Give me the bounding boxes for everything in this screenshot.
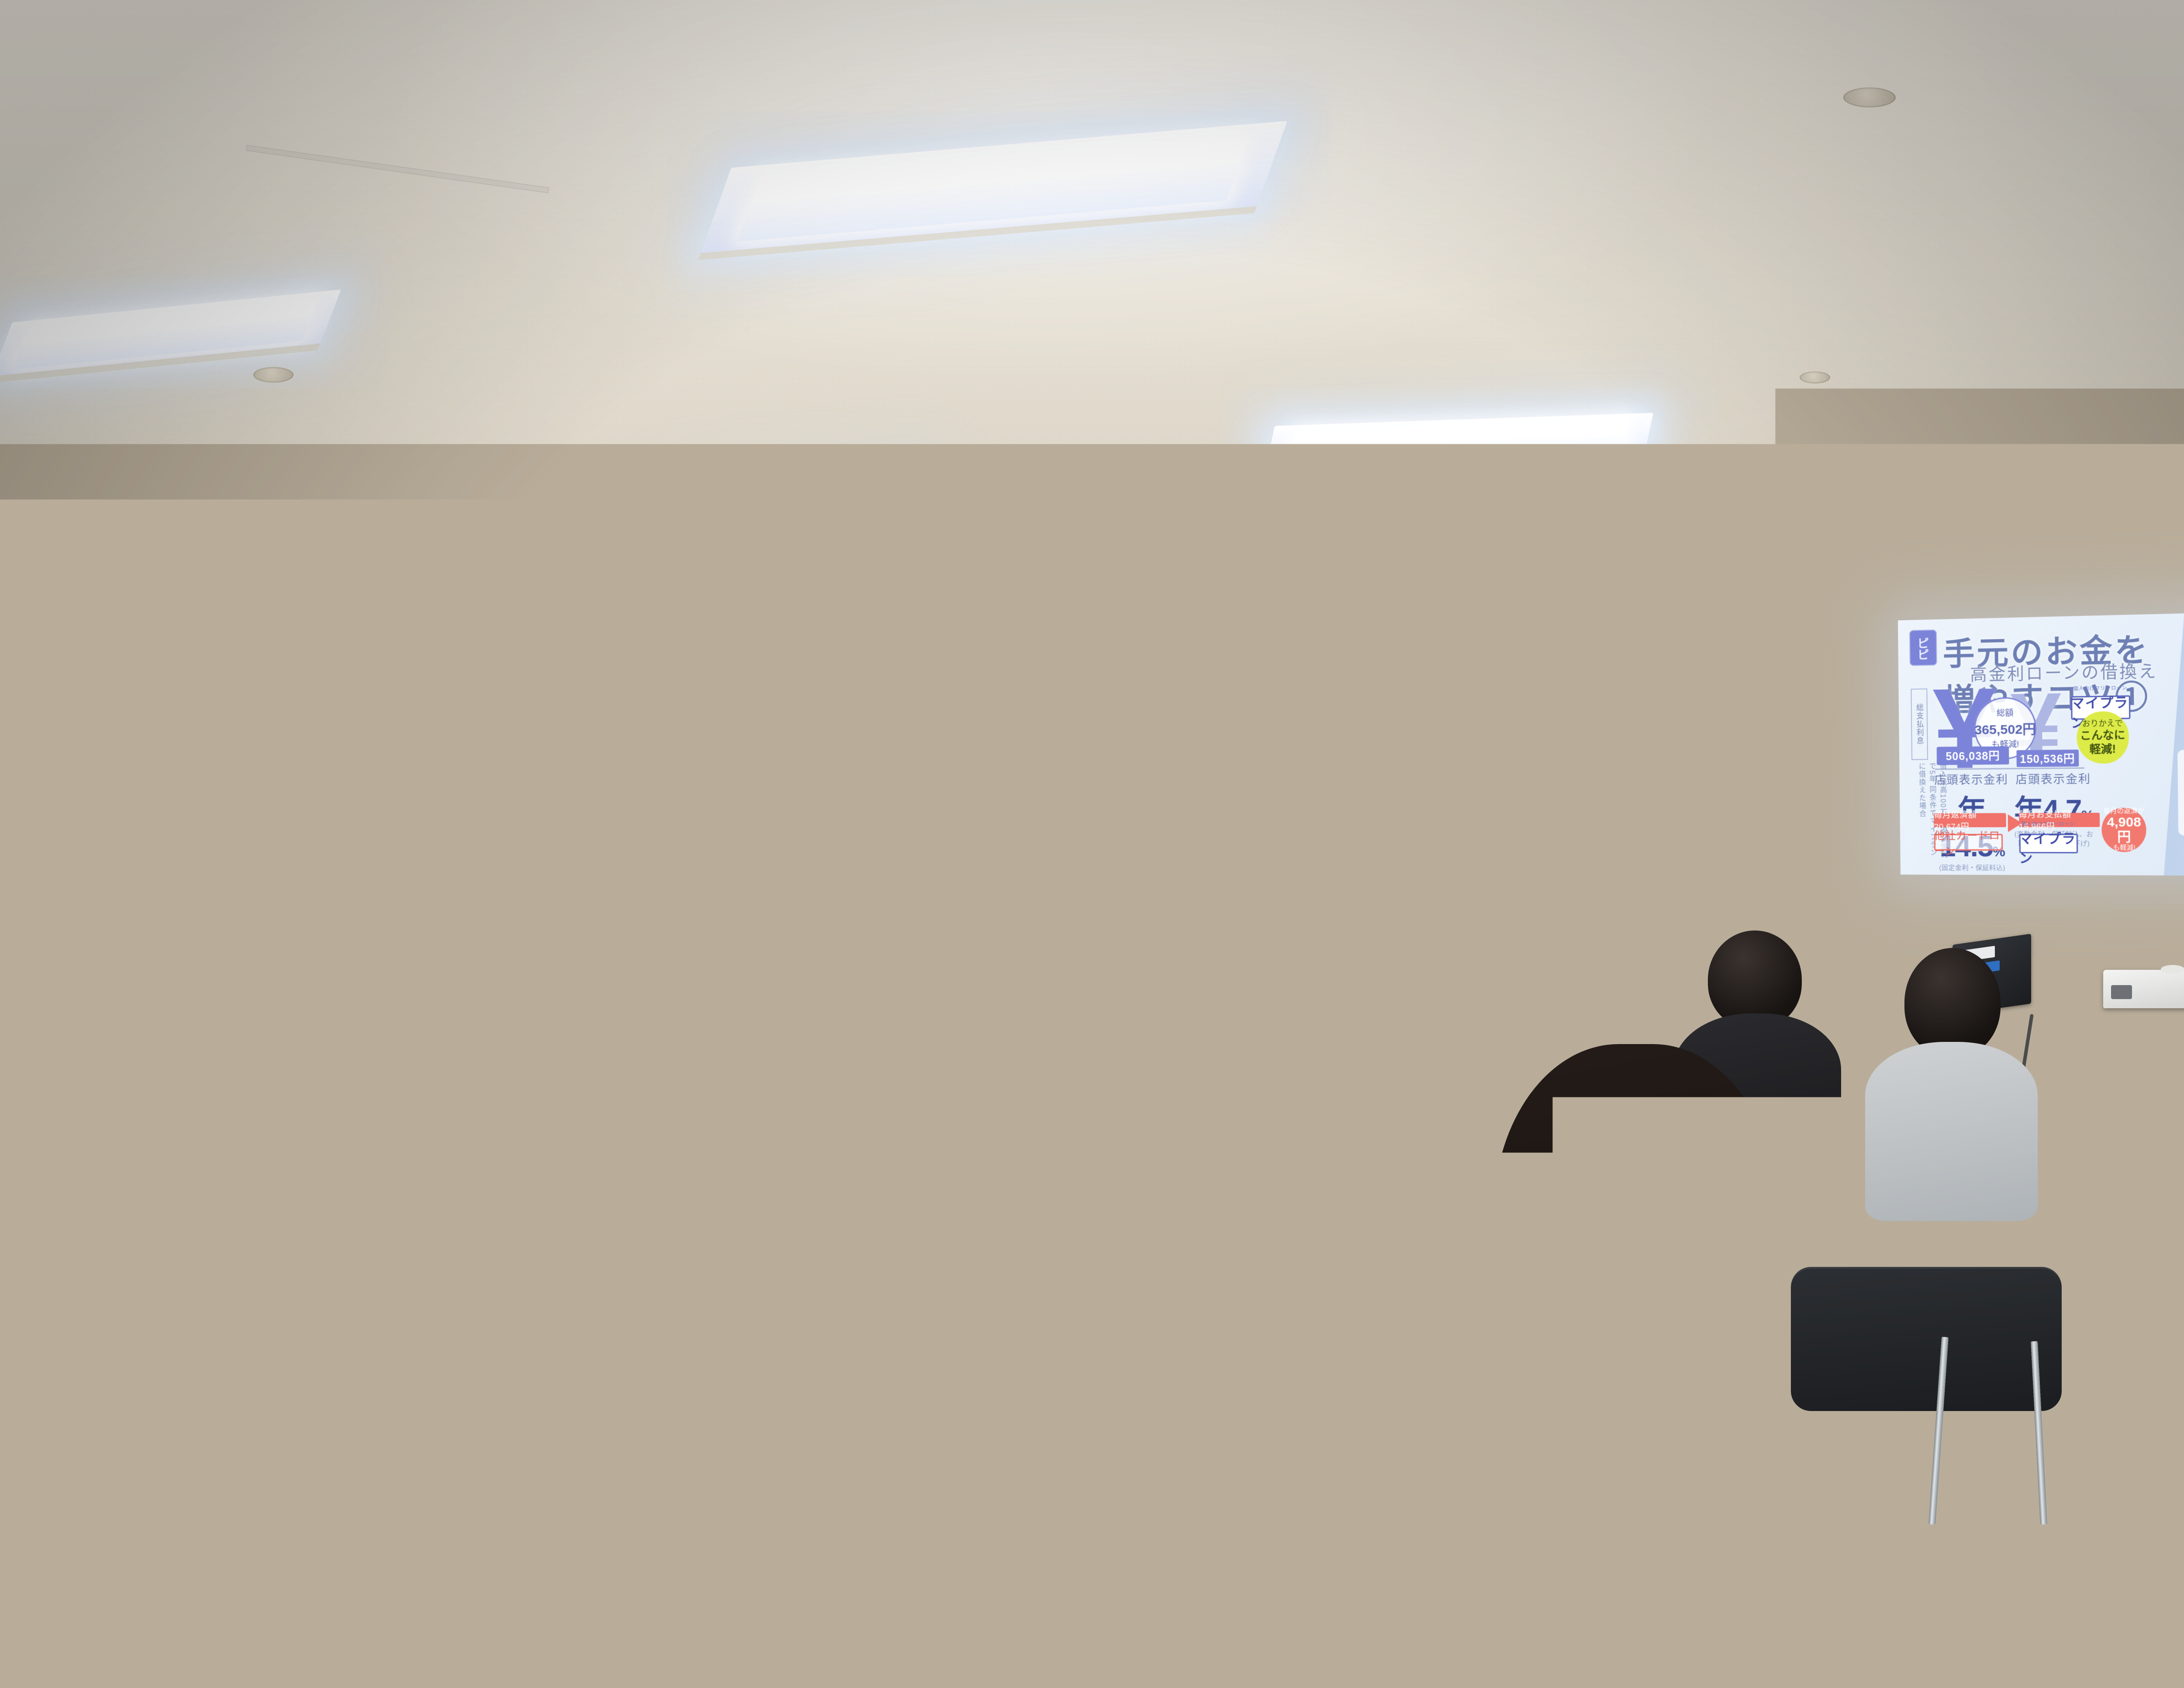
wall-outlet bbox=[788, 832, 826, 859]
slide-bubble-line1: 総額 bbox=[1997, 706, 2014, 719]
projection-screen: ピピ 手元のお金を増やすコツ① 高金利ローンの借換え 総支払利息 借入残高100… bbox=[1898, 612, 2184, 876]
blue-folder bbox=[1336, 1392, 1442, 1431]
attendee-center-back-1 bbox=[467, 874, 581, 1022]
slide-ribbon-after: 150,536円 bbox=[2016, 750, 2079, 767]
seminar-room-photo: Wi-Fi 無料でご利用できます ピピ 手元のお金を増やすコツ① 高金利ローンの… bbox=[0, 0, 2184, 1688]
hair bbox=[1628, 762, 1689, 791]
emergency-exit-sign bbox=[1385, 698, 1434, 741]
slide-green-callout: おりかえで こんなに 軽減! bbox=[2077, 711, 2129, 764]
slide-info-card: スマホで 簡単に申込 金利がおトク bbox=[2177, 749, 2184, 835]
wall-conduit bbox=[806, 585, 811, 751]
folding-chair[interactable] bbox=[1848, 1455, 2184, 1638]
slide-icon-glyph: ピピ bbox=[1914, 637, 1932, 658]
hair bbox=[1094, 847, 1153, 875]
slide-rate-before-note: (固定金利・保証料込) bbox=[1932, 863, 2012, 872]
slide-myplan-big-bottom: マイプラン bbox=[2019, 827, 2078, 867]
attendee-right-blouse bbox=[1865, 948, 2040, 1219]
hair bbox=[1215, 861, 1274, 887]
slide-green-line3: 軽減! bbox=[2090, 742, 2116, 756]
slide-subtitle: 高金利ローンの借換え bbox=[1970, 657, 2177, 685]
attendee-right-edge bbox=[2132, 1118, 2184, 1389]
folding-chair[interactable] bbox=[900, 1437, 1232, 1603]
face-mask bbox=[196, 986, 244, 1035]
folding-chair[interactable] bbox=[590, 1394, 930, 1568]
smoke-detector bbox=[1843, 87, 1896, 107]
slide-rate-before-label: 店頭表示金利 bbox=[1932, 771, 2011, 788]
slide-myplan-badge-bottom: 個人向けフリーローン マイプラン bbox=[2019, 834, 2078, 853]
slide-myplan-tiny: 個人向けフリーローン bbox=[2073, 684, 2127, 692]
bag[interactable] bbox=[441, 1332, 585, 1446]
slide-bubble-line2: 365,502円 bbox=[1974, 718, 2036, 738]
hoodie-brand-text: Find Out bbox=[1197, 1354, 1284, 1374]
slide-red-line1: 毎月の返済が bbox=[2103, 807, 2144, 815]
attendee-back-masked bbox=[1258, 965, 1441, 1254]
slide-monthly-savings-badge: 毎月の返済が 4,908円 も軽減! bbox=[2101, 807, 2147, 852]
slide-card-loan-label: 他社カードローン bbox=[1934, 834, 2003, 851]
hand bbox=[1131, 937, 1160, 960]
slide-green-line2: こんなに bbox=[2080, 729, 2125, 743]
folding-chair[interactable] bbox=[1791, 1267, 2062, 1411]
slide-red-line2: 4,908円 bbox=[2101, 815, 2146, 844]
folding-chair[interactable] bbox=[0, 1131, 144, 1289]
smoke-detector bbox=[1800, 371, 1830, 384]
slide-payment-before: 毎月返済額 20,674円 bbox=[1934, 813, 2006, 827]
smoke-detector bbox=[253, 367, 294, 383]
attendee-front-black bbox=[603, 983, 917, 1688]
slide-rate-after-label: 店頭表示金利 bbox=[2011, 770, 2096, 787]
attendee-right-longhair bbox=[1441, 1044, 1835, 1688]
presentation-slide: ピピ 手元のお金を増やすコツ① 高金利ローンの借換え 総支払利息 借入残高100… bbox=[1898, 612, 2184, 876]
slide-vertical-tab: 総支払利息 bbox=[1911, 688, 1928, 760]
seminar-handout bbox=[1179, 949, 1236, 961]
projector bbox=[2103, 970, 2184, 1008]
slide-icon-badge: ピピ bbox=[1909, 630, 1937, 666]
slide-green-line1: おりかえで bbox=[2082, 719, 2123, 729]
slide-myplan-tiny-bottom: 個人向けフリーローン bbox=[2022, 820, 2075, 828]
door-handle[interactable] bbox=[1387, 909, 1398, 920]
hood bbox=[1005, 1193, 1267, 1367]
slide-red-line3: も軽減! bbox=[2113, 844, 2135, 852]
slide-ribbon-before: 506,038円 bbox=[1937, 746, 2009, 765]
